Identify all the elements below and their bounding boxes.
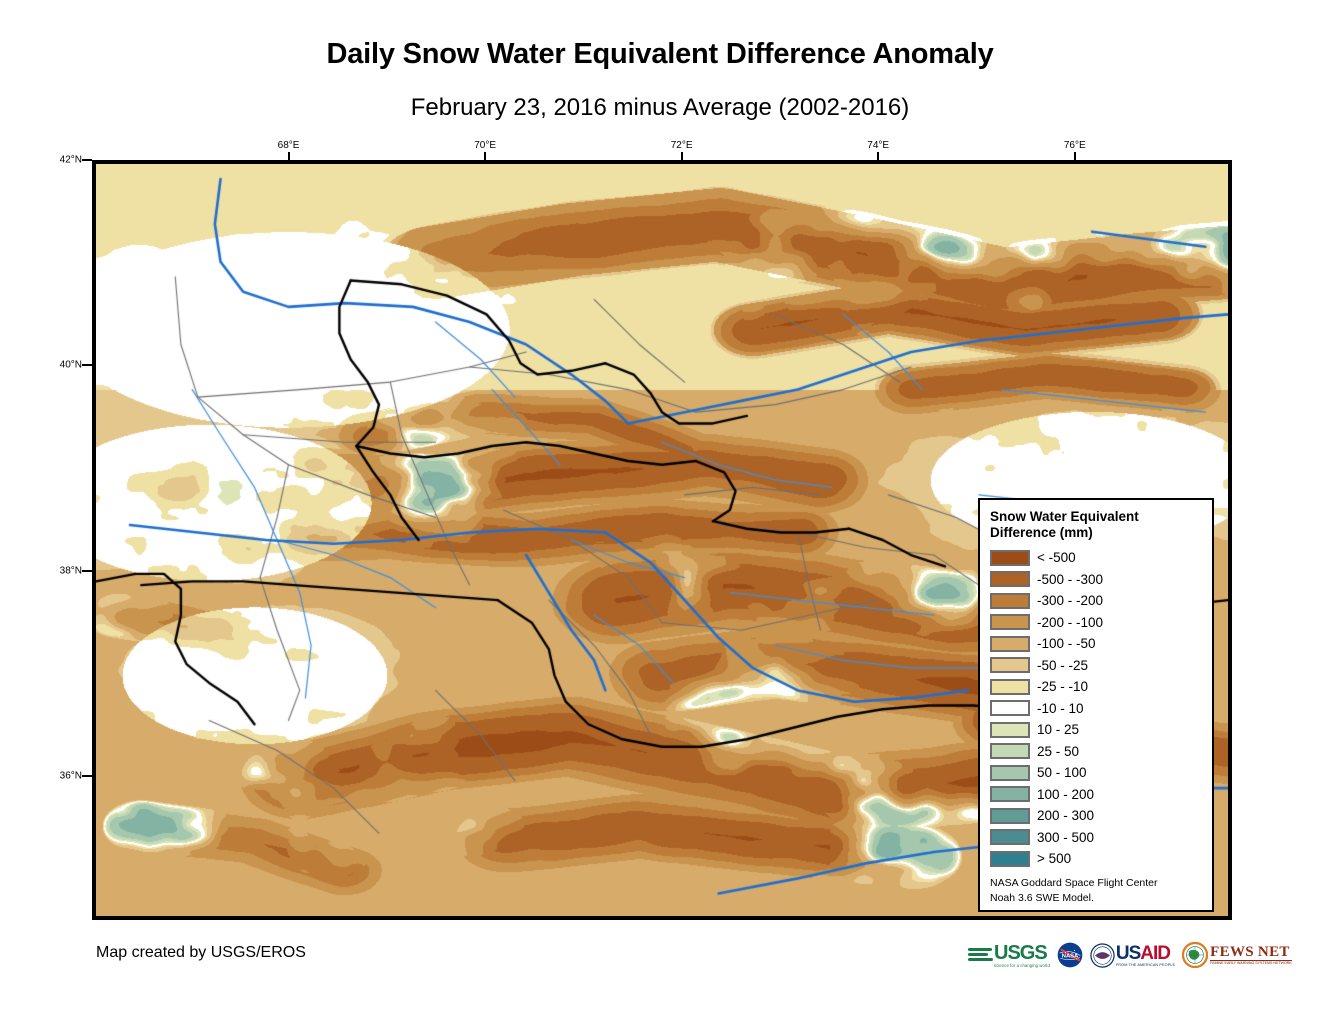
legend-label: -100 - -50 bbox=[1037, 636, 1096, 651]
legend-title-line2: Difference (mm) bbox=[990, 525, 1202, 541]
fews-tagline: FAMINE EARLY WARNING SYSTEMS NETWORK bbox=[1210, 961, 1292, 965]
legend-title-line1: Snow Water Equivalent bbox=[990, 509, 1202, 525]
legend-label: -10 - 10 bbox=[1037, 701, 1084, 716]
lon-tick-mark bbox=[484, 152, 486, 162]
legend-label: 200 - 300 bbox=[1037, 808, 1094, 823]
lat-tick-mark bbox=[82, 775, 92, 777]
legend-title: Snow Water Equivalent Difference (mm) bbox=[990, 509, 1202, 542]
legend-label: -300 - -200 bbox=[1037, 593, 1103, 608]
agency-logo-strip: USGS science for a changing world NASA bbox=[968, 934, 1240, 976]
legend-swatch bbox=[990, 700, 1030, 716]
legend-row: -50 - -25 bbox=[990, 654, 1202, 676]
lon-tick-label: 72°E bbox=[671, 140, 693, 151]
legend-label: 25 - 50 bbox=[1037, 744, 1079, 759]
legend-swatch bbox=[990, 851, 1030, 867]
lon-tick-mark bbox=[1074, 152, 1076, 162]
legend-row: < -500 bbox=[990, 547, 1202, 569]
legend-swatch bbox=[990, 722, 1030, 738]
legend-row: -200 - -100 bbox=[990, 611, 1202, 633]
legend-row: -100 - -50 bbox=[990, 633, 1202, 655]
legend-label: -25 - -10 bbox=[1037, 679, 1088, 694]
fews-globe-icon bbox=[1182, 942, 1208, 968]
legend-row: > 500 bbox=[990, 848, 1202, 870]
legend-row: 25 - 50 bbox=[990, 740, 1202, 762]
legend-class-list: < -500-500 - -300-300 - -200-200 - -100-… bbox=[990, 547, 1202, 870]
legend-swatch bbox=[990, 657, 1030, 673]
legend-row: 50 - 100 bbox=[990, 762, 1202, 784]
svg-text:NASA: NASA bbox=[1062, 954, 1079, 960]
legend-label: > 500 bbox=[1037, 851, 1071, 866]
lon-tick-label: 76°E bbox=[1064, 140, 1086, 151]
legend-label: -50 - -25 bbox=[1037, 658, 1088, 673]
lat-tick-label: 36°N bbox=[60, 771, 82, 782]
legend-panel: Snow Water Equivalent Difference (mm) < … bbox=[978, 498, 1214, 912]
legend-swatch bbox=[990, 636, 1030, 652]
fews-net-logo: FEWS NET FAMINE EARLY WARNING SYSTEMS NE… bbox=[1182, 938, 1292, 972]
legend-source-line1: NASA Goddard Space Flight Center bbox=[990, 876, 1202, 890]
lon-tick-mark bbox=[288, 152, 290, 162]
legend-row: 10 - 25 bbox=[990, 719, 1202, 741]
usaid-wordmark: USAID bbox=[1116, 944, 1175, 963]
usaid-word-aid: AID bbox=[1140, 943, 1170, 964]
legend-row: -10 - 10 bbox=[990, 697, 1202, 719]
legend-label: < -500 bbox=[1037, 550, 1076, 565]
legend-swatch bbox=[990, 679, 1030, 695]
lat-tick-label: 38°N bbox=[60, 565, 82, 576]
legend-swatch bbox=[990, 593, 1030, 609]
lat-tick-label: 40°N bbox=[60, 360, 82, 371]
legend-swatch bbox=[990, 786, 1030, 802]
nasa-logo: NASA bbox=[1057, 938, 1083, 972]
page-subtitle: February 23, 2016 minus Average (2002-20… bbox=[0, 94, 1320, 122]
legend-row: 200 - 300 bbox=[990, 805, 1202, 827]
legend-label: 10 - 25 bbox=[1037, 722, 1079, 737]
legend-row: 300 - 500 bbox=[990, 826, 1202, 848]
usaid-word-us: US bbox=[1116, 943, 1140, 964]
legend-label: -500 - -300 bbox=[1037, 572, 1103, 587]
legend-row: -300 - -200 bbox=[990, 590, 1202, 612]
fews-wordmark: FEWS NET bbox=[1210, 945, 1292, 961]
lon-tick-mark bbox=[877, 152, 879, 162]
lat-tick-mark bbox=[82, 570, 92, 572]
legend-swatch bbox=[990, 550, 1030, 566]
legend-label: 300 - 500 bbox=[1037, 830, 1094, 845]
lat-tick-label: 42°N bbox=[60, 155, 82, 166]
lon-tick-label: 68°E bbox=[278, 140, 300, 151]
legend-label: 50 - 100 bbox=[1037, 765, 1087, 780]
nasa-meatball-icon: NASA bbox=[1057, 942, 1083, 968]
legend-label: -200 - -100 bbox=[1037, 615, 1103, 630]
legend-source-line2: Noah 3.6 SWE Model. bbox=[990, 891, 1202, 905]
lon-tick-label: 74°E bbox=[867, 140, 889, 151]
usgs-wordmark: USGS bbox=[994, 943, 1050, 963]
usgs-wave-icon bbox=[968, 946, 994, 964]
map-credit: Map created by USGS/EROS bbox=[96, 944, 306, 962]
legend-swatch bbox=[990, 743, 1030, 759]
page-title: Daily Snow Water Equivalent Difference A… bbox=[0, 38, 1320, 71]
usgs-logo: USGS science for a changing world bbox=[968, 938, 1050, 972]
legend-label: 100 - 200 bbox=[1037, 787, 1094, 802]
lon-tick-mark bbox=[681, 152, 683, 162]
usgs-tagline: science for a changing world bbox=[994, 963, 1050, 968]
legend-row: -25 - -10 bbox=[990, 676, 1202, 698]
legend-row: 100 - 200 bbox=[990, 783, 1202, 805]
legend-swatch bbox=[990, 808, 1030, 824]
usaid-logo: USAID FROM THE AMERICAN PEOPLE bbox=[1090, 938, 1175, 972]
lat-tick-mark bbox=[82, 159, 92, 161]
legend-swatch bbox=[990, 571, 1030, 587]
usaid-tagline: FROM THE AMERICAN PEOPLE bbox=[1116, 963, 1175, 967]
lon-tick-label: 70°E bbox=[474, 140, 496, 151]
legend-swatch bbox=[990, 765, 1030, 781]
legend-swatch bbox=[990, 829, 1030, 845]
lat-tick-mark bbox=[82, 364, 92, 366]
legend-swatch bbox=[990, 614, 1030, 630]
legend-row: -500 - -300 bbox=[990, 568, 1202, 590]
legend-source: NASA Goddard Space Flight Center Noah 3.… bbox=[990, 876, 1202, 904]
usaid-seal-icon bbox=[1090, 943, 1115, 968]
